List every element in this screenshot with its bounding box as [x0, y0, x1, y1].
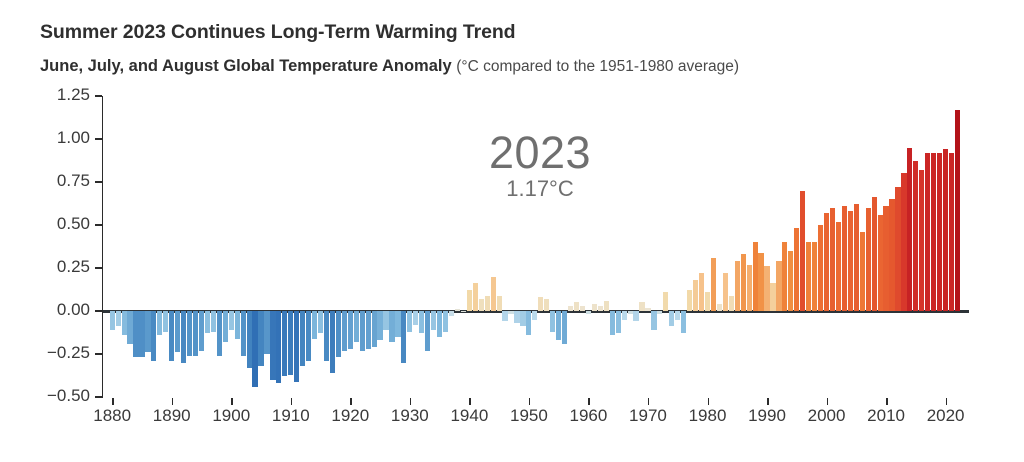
- chart-subtitle: June, July, and August Global Temperatur…: [40, 57, 739, 76]
- bar: [247, 311, 252, 368]
- bar: [377, 311, 382, 340]
- x-axis-tick: [350, 398, 352, 405]
- chart-title: Summer 2023 Continues Long-Term Warming …: [40, 21, 516, 44]
- bar: [276, 311, 281, 383]
- bar: [776, 261, 781, 311]
- bar: [758, 253, 763, 311]
- x-axis-tick: [231, 398, 233, 405]
- bar: [866, 208, 871, 311]
- x-axis-tick-label: 1920: [320, 406, 380, 426]
- bar: [223, 311, 228, 342]
- chart-root: Summer 2023 Continues Long-Term Warming …: [0, 0, 1024, 462]
- bar: [794, 228, 799, 311]
- bar: [568, 306, 573, 311]
- x-axis-tick-label: 1940: [439, 406, 499, 426]
- bar: [788, 251, 793, 311]
- bar: [830, 208, 835, 311]
- bar: [449, 311, 454, 316]
- bar: [443, 311, 448, 332]
- bar: [193, 311, 198, 356]
- bar: [401, 311, 406, 363]
- bar: [955, 110, 960, 311]
- y-axis-tick-label: 0.75: [26, 171, 90, 191]
- x-axis-tick: [648, 398, 650, 405]
- bar: [175, 311, 180, 352]
- bar: [252, 311, 257, 387]
- bar: [764, 266, 769, 311]
- bar: [687, 290, 692, 311]
- bar: [937, 153, 942, 311]
- x-axis-tick: [291, 398, 293, 405]
- bar: [300, 311, 305, 366]
- x-axis-tick-label: 1890: [142, 406, 202, 426]
- bar: [800, 191, 805, 311]
- y-axis-tick-label: −0.50: [26, 386, 90, 406]
- bar: [586, 311, 591, 314]
- bar: [657, 311, 662, 314]
- bar: [360, 311, 365, 351]
- bar: [431, 311, 436, 330]
- bar: [770, 283, 775, 311]
- bar: [157, 311, 162, 335]
- bar: [354, 311, 359, 342]
- chart-subtitle-strong: June, July, and August Global Temperatur…: [40, 57, 452, 75]
- bar: [389, 311, 394, 342]
- x-axis-tick-label: 1900: [201, 406, 261, 426]
- x-axis-tick: [827, 398, 829, 405]
- bar: [693, 280, 698, 311]
- bar: [187, 311, 192, 356]
- bar: [550, 311, 555, 332]
- y-axis-tick-label: 1.25: [26, 85, 90, 105]
- bar: [901, 173, 906, 311]
- bar: [872, 197, 877, 311]
- bar: [395, 311, 400, 337]
- bar: [913, 161, 918, 311]
- bar: [145, 311, 150, 352]
- x-axis-tick-label: 1910: [261, 406, 321, 426]
- x-axis-tick-label: 2010: [856, 406, 916, 426]
- y-axis-tick: [95, 95, 102, 97]
- x-axis-tick-label: 2020: [916, 406, 976, 426]
- bar: [925, 153, 930, 311]
- bar: [270, 311, 275, 380]
- bar: [497, 296, 502, 311]
- bar: [562, 311, 567, 344]
- bar: [705, 292, 710, 311]
- x-axis-tick: [708, 398, 710, 405]
- y-axis-tick: [95, 396, 102, 398]
- bar: [122, 311, 127, 335]
- bar: [824, 213, 829, 311]
- bar: [598, 306, 603, 311]
- bar: [526, 311, 531, 335]
- bar: [616, 311, 621, 333]
- bar: [133, 311, 138, 357]
- bar: [651, 311, 656, 330]
- bar: [342, 311, 347, 351]
- bar: [741, 254, 746, 311]
- bar: [836, 222, 841, 311]
- bar: [294, 311, 299, 382]
- bar: [318, 311, 323, 333]
- bar: [883, 206, 888, 311]
- bar: [205, 311, 210, 333]
- bar: [747, 265, 752, 311]
- bar: [782, 242, 787, 311]
- bar: [878, 215, 883, 311]
- bar: [479, 299, 484, 311]
- bar: [235, 311, 240, 339]
- bar: [592, 304, 597, 311]
- bar: [437, 311, 442, 337]
- bar: [895, 187, 900, 311]
- y-axis-tick-label: −0.25: [26, 343, 90, 363]
- bar: [949, 153, 954, 311]
- x-axis-tick: [946, 398, 948, 405]
- bar: [139, 311, 144, 357]
- bar: [116, 311, 121, 326]
- bar: [181, 311, 186, 363]
- x-axis-tick: [469, 398, 471, 405]
- bar: [574, 302, 579, 311]
- bar: [288, 311, 293, 375]
- bar: [211, 311, 216, 332]
- bar: [312, 311, 317, 339]
- bar: [622, 311, 627, 320]
- x-axis-tick-label: 1880: [82, 406, 142, 426]
- bar: [306, 311, 311, 361]
- y-axis-tick-label: 1.00: [26, 128, 90, 148]
- y-axis-tick: [95, 181, 102, 183]
- bar: [806, 242, 811, 311]
- bar: [508, 311, 513, 314]
- bar: [127, 311, 132, 344]
- plot-area: [103, 96, 968, 397]
- bar: [258, 311, 263, 366]
- bar: [461, 311, 466, 312]
- bar: [669, 311, 674, 326]
- x-axis-tick-label: 1930: [380, 406, 440, 426]
- bar: [812, 242, 817, 311]
- bar: [485, 296, 490, 311]
- bar: [544, 299, 549, 311]
- y-axis-tick: [95, 353, 102, 355]
- bar: [818, 225, 823, 311]
- x-axis-tick-label: 2000: [797, 406, 857, 426]
- bar: [473, 283, 478, 311]
- bar: [151, 311, 156, 361]
- bar: [628, 311, 633, 314]
- chart-subtitle-light: (°C compared to the 1951-1980 average): [456, 58, 739, 75]
- x-axis-tick-label: 1950: [499, 406, 559, 426]
- bar: [217, 311, 222, 356]
- x-axis-tick: [172, 398, 174, 405]
- x-axis-tick: [529, 398, 531, 405]
- bar-series: [103, 96, 968, 397]
- bar: [556, 311, 561, 340]
- x-axis-tick: [886, 398, 888, 405]
- bar: [336, 311, 341, 357]
- bar: [514, 311, 519, 323]
- bar: [467, 290, 472, 311]
- bar: [729, 296, 734, 311]
- bar: [854, 204, 859, 311]
- bar: [889, 199, 894, 311]
- bar: [491, 277, 496, 311]
- bar: [330, 311, 335, 373]
- bar: [348, 311, 353, 349]
- bar: [753, 242, 758, 311]
- y-axis-tick-label: 0.50: [26, 214, 90, 234]
- x-axis-tick: [767, 398, 769, 405]
- bar: [532, 311, 537, 320]
- bar: [711, 258, 716, 311]
- bar: [735, 261, 740, 311]
- bar: [110, 311, 115, 330]
- bar: [199, 311, 204, 351]
- x-axis-tick-label: 1960: [558, 406, 618, 426]
- bar: [407, 311, 412, 332]
- bar: [645, 308, 650, 311]
- x-axis-tick: [588, 398, 590, 405]
- bar: [264, 311, 269, 354]
- x-axis-tick-label: 1980: [678, 406, 738, 426]
- bar: [520, 311, 525, 326]
- y-axis-tick-label: 0.25: [26, 257, 90, 277]
- y-axis-tick: [95, 224, 102, 226]
- bar: [366, 311, 371, 349]
- bar: [699, 273, 704, 311]
- y-axis-tick-label: 0.00: [26, 300, 90, 320]
- bar: [723, 273, 728, 311]
- bar: [943, 149, 948, 311]
- y-axis-tick: [95, 267, 102, 269]
- bar: [241, 311, 246, 356]
- bar: [717, 304, 722, 311]
- bar: [419, 311, 424, 333]
- bar: [610, 311, 615, 335]
- bar: [907, 148, 912, 311]
- bar: [502, 311, 507, 321]
- y-axis-tick: [95, 310, 102, 312]
- bar: [163, 311, 168, 332]
- bar: [681, 311, 686, 333]
- bar: [383, 311, 388, 330]
- x-axis-tick: [112, 398, 114, 405]
- bar: [675, 311, 680, 320]
- bar: [639, 302, 644, 311]
- bar: [848, 211, 853, 311]
- bar: [169, 311, 174, 361]
- y-axis-tick: [95, 138, 102, 140]
- x-axis-tick-label: 1990: [737, 406, 797, 426]
- bar: [633, 311, 638, 321]
- bar: [324, 311, 329, 361]
- bar: [229, 311, 234, 330]
- bar: [860, 232, 865, 311]
- bar: [538, 297, 543, 311]
- bar: [413, 311, 418, 325]
- bar: [663, 292, 668, 311]
- x-axis-tick-label: 1970: [618, 406, 678, 426]
- bar: [425, 311, 430, 351]
- bar: [282, 311, 287, 376]
- bar: [372, 311, 377, 347]
- bar: [455, 309, 460, 311]
- bar: [842, 206, 847, 311]
- bar: [919, 170, 924, 311]
- bar: [580, 306, 585, 311]
- bar: [604, 301, 609, 311]
- bar: [931, 153, 936, 311]
- x-axis-tick: [410, 398, 412, 405]
